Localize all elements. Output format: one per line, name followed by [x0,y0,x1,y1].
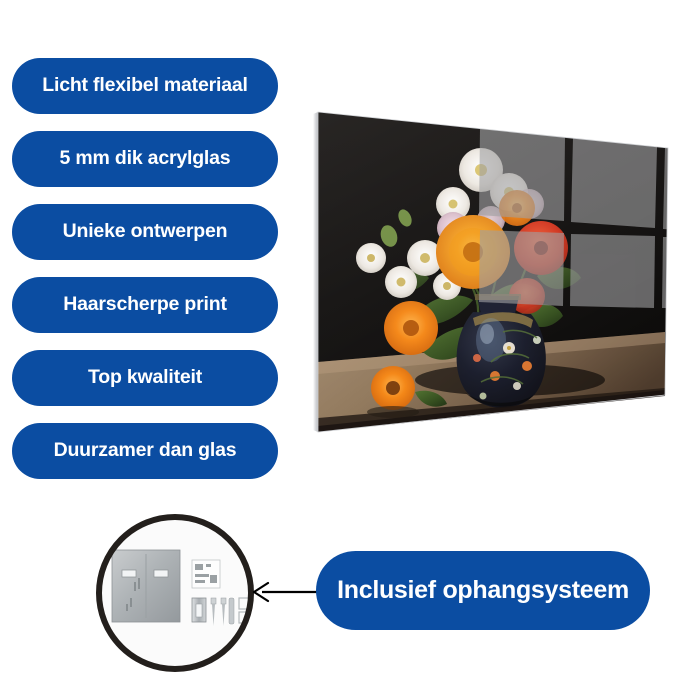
mounting-kit-svg [94,512,256,674]
acrylic-panel-svg [305,100,680,450]
glass-window-reflection [318,112,677,432]
plate-slot-left [122,570,136,577]
callout-pill-label: Inclusief ophangsysteem [337,578,629,603]
feature-pill-haarscherpe-print[interactable]: Haarscherpe print [12,277,278,333]
feature-pill-licht-flexibel-materiaal[interactable]: Licht flexibel materiaal [12,58,278,114]
feature-pill-5-mm-dik-acrylglas[interactable]: 5 mm dik acrylglas [12,131,278,187]
wall-plugs [229,598,234,624]
mounting-kit-photo [94,512,256,674]
feature-pill-label: Top kwaliteit [88,368,202,388]
feature-pill-label: Haarscherpe print [63,295,227,315]
plate-slot-right [154,570,168,577]
feature-pill-label: Duurzamer dan glas [54,441,237,461]
feature-pill-label: Unieke ontwerpen [63,222,228,242]
feature-pill-duurzamer-dan-glas[interactable]: Duurzamer dan glas [12,423,278,479]
panel-thickness-edge [313,112,318,432]
callout-pill-inclusief-ophangsysteem[interactable]: Inclusief ophangsysteem [316,551,650,630]
feature-pill-unieke-ontwerpen[interactable]: Unieke ontwerpen [12,204,278,260]
feature-pill-top-kwaliteit[interactable]: Top kwaliteit [12,350,278,406]
feature-pill-list: Licht flexibel materiaal 5 mm dik acrylg… [12,58,278,496]
feature-pill-label: Licht flexibel materiaal [42,76,247,96]
acrylic-panel-product-image [305,100,680,450]
feature-pill-label: 5 mm dik acrylglas [60,149,231,169]
mounting-kit-circle [94,512,256,674]
product-feature-composition: Licht flexibel materiaal 5 mm dik acrylg… [0,0,700,700]
